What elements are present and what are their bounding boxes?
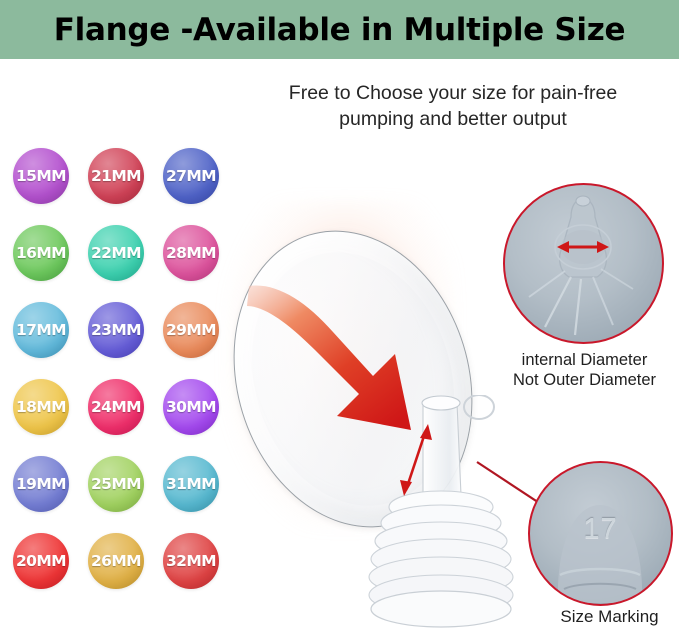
size-circle-label: 21MM	[91, 167, 141, 185]
caption-internal-line-1: internal Diameter	[492, 350, 677, 370]
caption-size-marking: Size Marking	[540, 607, 679, 627]
size-circle-label: 23MM	[91, 321, 141, 339]
size-circle-18[interactable]: 18MM	[13, 379, 69, 435]
size-circle-label: 32MM	[166, 552, 216, 570]
size-circle-label: 19MM	[16, 475, 66, 493]
size-circle-29[interactable]: 29MM	[163, 302, 219, 358]
size-circle-label: 29MM	[166, 321, 216, 339]
size-circle-label: 30MM	[166, 398, 216, 416]
size-circle-26[interactable]: 26MM	[88, 533, 144, 589]
magnifier-internal-diameter	[503, 183, 664, 344]
subtitle-line-1: Free to Choose your size for pain-free	[238, 80, 668, 106]
size-circle-28[interactable]: 28MM	[163, 225, 219, 281]
size-circle-22[interactable]: 22MM	[88, 225, 144, 281]
size-circle-30[interactable]: 30MM	[163, 379, 219, 435]
size-circle-31[interactable]: 31MM	[163, 456, 219, 512]
size-circle-label: 25MM	[91, 475, 141, 493]
diameter-double-arrow-icon	[395, 420, 441, 500]
size-circle-24[interactable]: 24MM	[88, 379, 144, 435]
size-options-grid: 15MM16MM17MM18MM19MM20MM21MM22MM23MM24MM…	[13, 148, 235, 558]
size-marking-number: 17	[583, 513, 617, 546]
size-circle-27[interactable]: 27MM	[163, 148, 219, 204]
size-circle-label: 27MM	[166, 167, 216, 185]
size-circle-label: 17MM	[16, 321, 66, 339]
size-circle-23[interactable]: 23MM	[88, 302, 144, 358]
size-circle-21[interactable]: 21MM	[88, 148, 144, 204]
size-circle-label: 22MM	[91, 244, 141, 262]
size-circle-label: 16MM	[16, 244, 66, 262]
size-circle-20[interactable]: 20MM	[13, 533, 69, 589]
size-circle-25[interactable]: 25MM	[88, 456, 144, 512]
caption-internal-line-2: Not Outer Diameter	[492, 370, 677, 390]
size-circle-label: 31MM	[166, 475, 216, 493]
size-circle-label: 18MM	[16, 398, 66, 416]
size-circle-16[interactable]: 16MM	[13, 225, 69, 281]
size-circle-label: 15MM	[16, 167, 66, 185]
size-circle-label: 20MM	[16, 552, 66, 570]
size-circle-label: 26MM	[91, 552, 141, 570]
size-circle-32[interactable]: 32MM	[163, 533, 219, 589]
size-circle-label: 24MM	[91, 398, 141, 416]
magnifier-size-marking: 17	[528, 461, 673, 606]
size-circle-label: 28MM	[166, 244, 216, 262]
page-title: Flange -Available in Multiple Size	[54, 12, 625, 48]
size-circle-15[interactable]: 15MM	[13, 148, 69, 204]
subtitle-line-2: pumping and better output	[238, 106, 668, 132]
header-band: Flange -Available in Multiple Size	[0, 0, 679, 59]
subtitle: Free to Choose your size for pain-free p…	[238, 80, 668, 132]
caption-internal-diameter: internal Diameter Not Outer Diameter	[492, 350, 677, 390]
flange-interior-detail	[505, 185, 661, 341]
size-circle-19[interactable]: 19MM	[13, 456, 69, 512]
size-circle-17[interactable]: 17MM	[13, 302, 69, 358]
